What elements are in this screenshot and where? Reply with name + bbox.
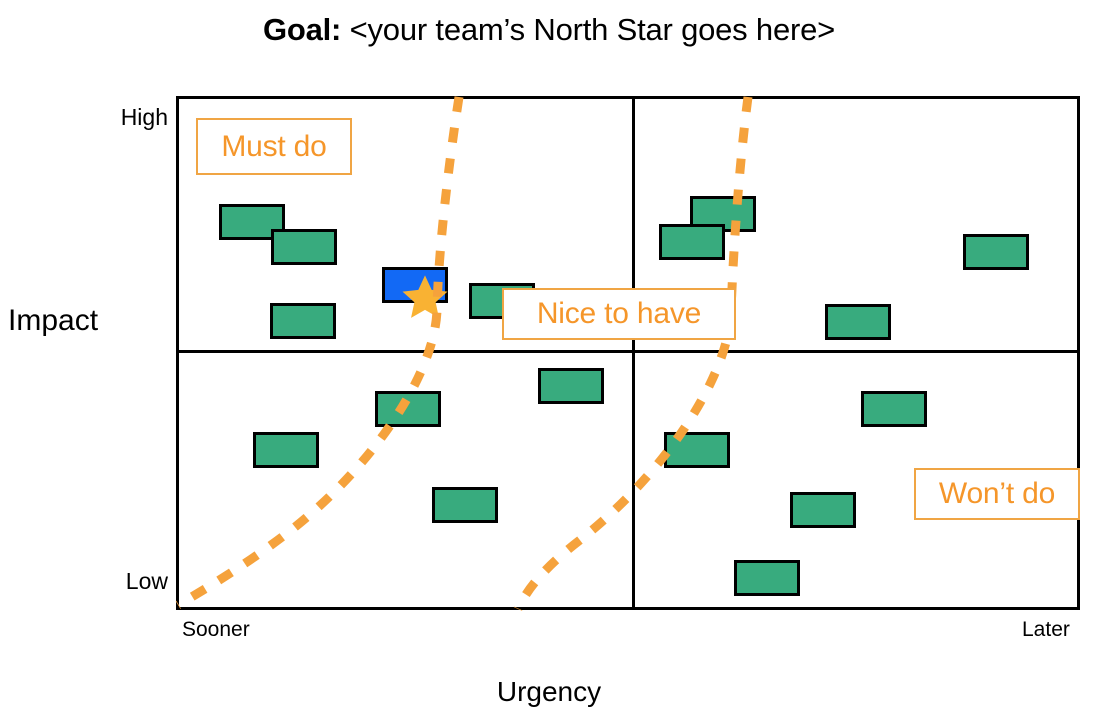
matrix-card[interactable] <box>790 492 856 528</box>
matrix-card[interactable] <box>375 391 441 427</box>
matrix-card[interactable] <box>659 224 725 260</box>
axis-title-urgency: Urgency <box>0 676 1098 708</box>
matrix-card[interactable] <box>271 229 337 265</box>
matrix-card[interactable] <box>734 560 800 596</box>
axis-label-later: Later <box>1022 618 1070 642</box>
page-title-prefix: Goal: <box>263 12 341 47</box>
quadrant-label-text: Nice to have <box>537 297 701 331</box>
matrix-card[interactable] <box>664 432 730 468</box>
quadrant-label-wont-do[interactable]: Won’t do <box>914 468 1080 520</box>
matrix-card[interactable] <box>253 432 319 468</box>
axis-title-impact: Impact <box>8 304 98 338</box>
matrix-card[interactable] <box>432 487 498 523</box>
matrix-card[interactable] <box>861 391 927 427</box>
matrix-vertical-divider <box>632 96 635 610</box>
quadrant-label-must-do[interactable]: Must do <box>196 118 352 175</box>
priority-matrix: Goal: <your team’s North Star goes here>… <box>0 0 1098 724</box>
axis-label-sooner: Sooner <box>182 618 250 642</box>
quadrant-label-text: Must do <box>221 130 326 164</box>
matrix-card[interactable] <box>825 304 891 340</box>
matrix-card[interactable] <box>270 303 336 339</box>
page-title: Goal: <your team’s North Star goes here> <box>0 12 1098 48</box>
axis-label-high: High <box>121 104 168 131</box>
star-icon <box>400 272 450 322</box>
matrix-horizontal-divider <box>176 350 1080 353</box>
quadrant-label-text: Won’t do <box>939 477 1055 511</box>
page-title-text: <your team’s North Star goes here> <box>341 12 835 47</box>
matrix-card[interactable] <box>538 368 604 404</box>
matrix-card[interactable] <box>963 234 1029 270</box>
quadrant-label-nice-to-have[interactable]: Nice to have <box>502 288 736 340</box>
axis-label-low: Low <box>126 568 168 595</box>
